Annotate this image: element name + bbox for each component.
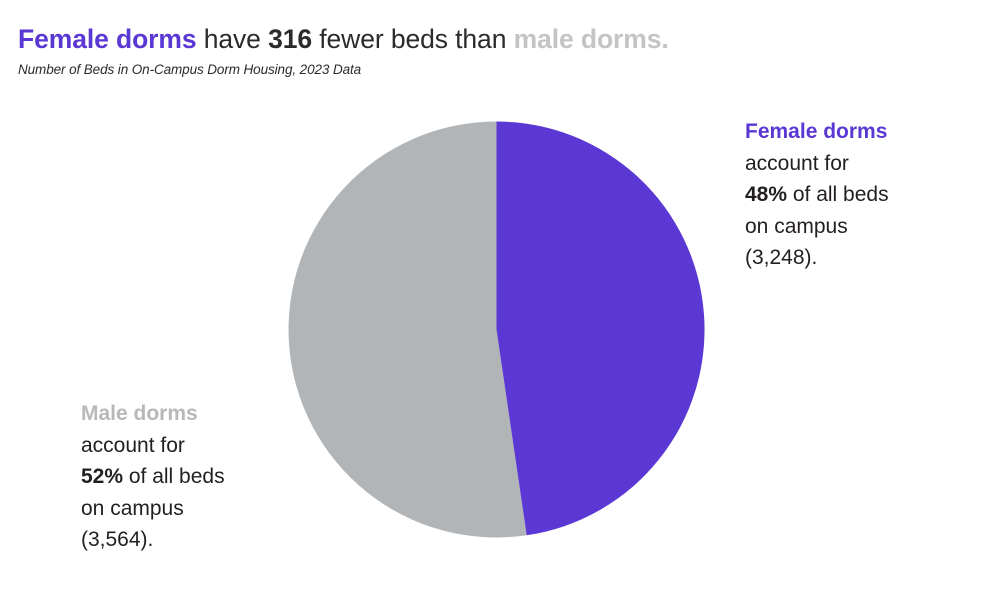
annotation-male-line2-rest: of all beds [123,465,225,488]
page-title: Female dorms have 316 fewer beds than ma… [18,24,978,54]
pie-chart-svg [288,121,705,538]
chart-header: Female dorms have 316 fewer beds than ma… [18,24,978,77]
annotation-male-heading: Male dorms [81,398,321,430]
annotation-male-line3: on campus [81,493,321,525]
annotation-female-line3: on campus [745,211,993,243]
annotation-male-line2: 52% of all beds [81,461,321,493]
title-segment-fewer-beds: fewer beds than [312,24,514,54]
annotation-male: Male dorms account for 52% of all beds o… [81,398,321,556]
annotation-male-line1: account for [81,430,321,462]
annotation-female-percent: 48% [745,183,787,206]
title-segment-number: 316 [268,24,312,54]
pie-chart [288,121,705,538]
annotation-female-line1: account for [745,148,993,180]
annotation-male-line4: (3,564). [81,524,321,556]
title-segment-male: male dorms. [514,24,669,54]
annotation-male-percent: 52% [81,465,123,488]
pie-slice-female[interactable] [497,122,705,536]
annotation-female-line2-rest: of all beds [787,183,889,206]
title-segment-have: have [196,24,268,54]
annotation-female-heading: Female dorms [745,116,993,148]
annotation-female: Female dorms account for 48% of all beds… [745,116,993,274]
page-subtitle: Number of Beds in On-Campus Dorm Housing… [18,62,978,77]
pie-slice-male[interactable] [289,122,527,538]
annotation-female-line2: 48% of all beds [745,179,993,211]
annotation-female-line4: (3,248). [745,242,993,274]
title-segment-female: Female dorms [18,24,196,54]
